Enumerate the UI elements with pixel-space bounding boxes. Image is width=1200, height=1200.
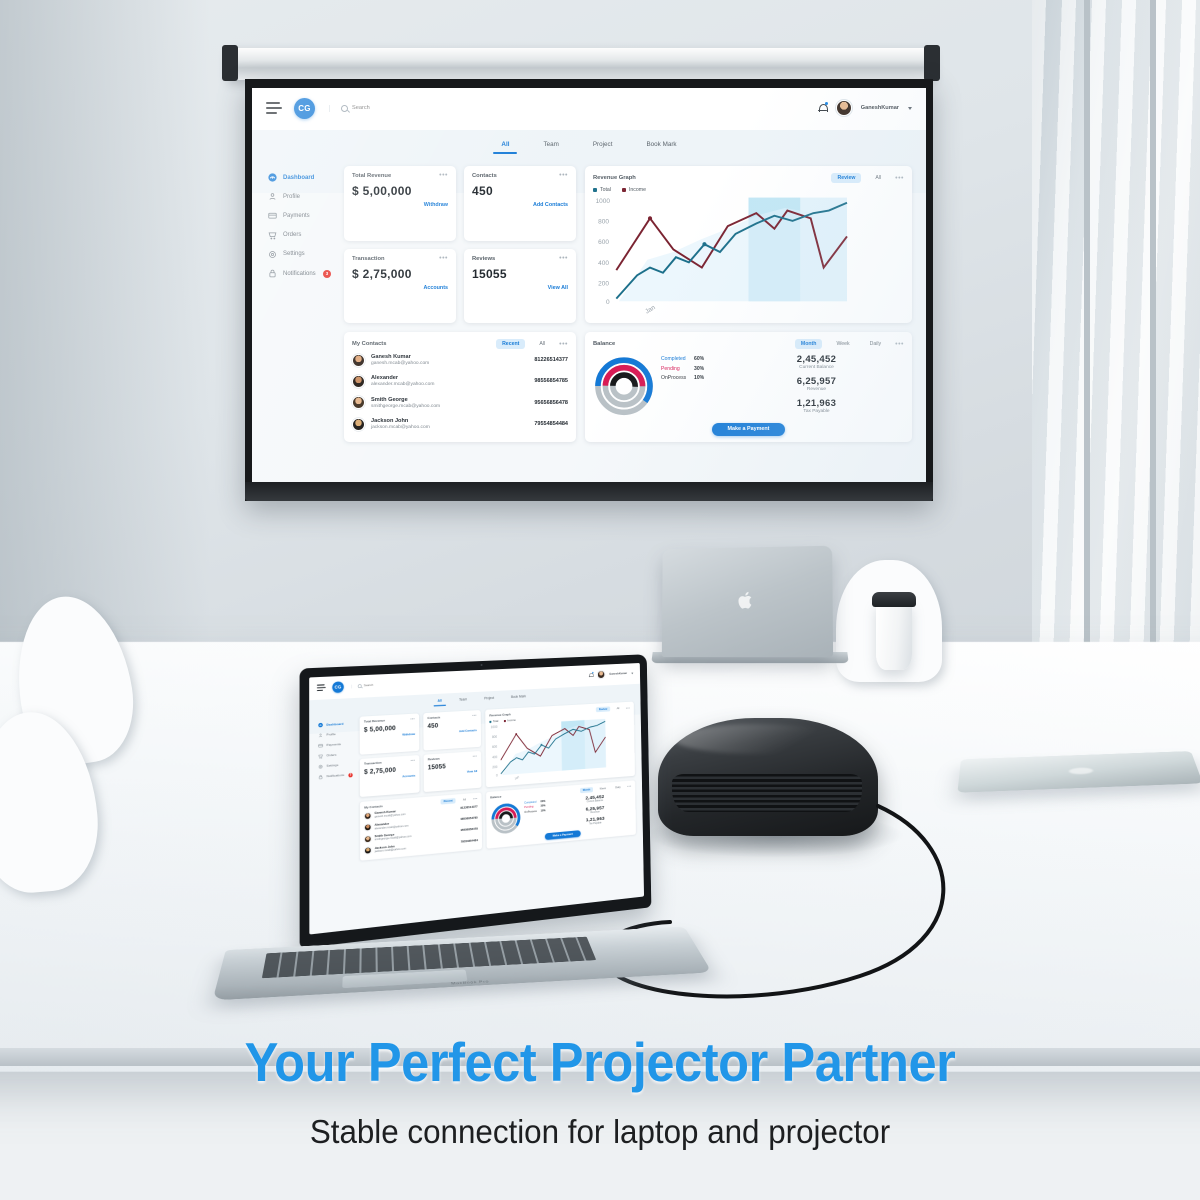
brand-logo[interactable]: CG — [294, 98, 315, 119]
sidebar-label: Dashboard — [283, 175, 314, 181]
card-title: Reviews — [472, 256, 495, 262]
contact-email: smithgeorge.mcab@yahoo.com — [371, 404, 528, 409]
tab-project[interactable]: Project — [593, 141, 613, 154]
revenue-graph-title: Revenue Graph — [489, 713, 510, 717]
dashboard-icon — [318, 722, 324, 728]
card-action-link[interactable]: Add Contacts — [428, 729, 477, 735]
balance-radial-chart — [490, 799, 521, 837]
stat-value: 15055 — [472, 267, 568, 281]
card-action-link[interactable]: Accounts — [364, 774, 415, 781]
sidebar-label: Payments — [283, 213, 310, 219]
more-options-icon[interactable]: ••• — [439, 256, 448, 261]
gear-icon — [318, 764, 324, 770]
card-title: Total Revenue — [364, 719, 385, 723]
contact-phone: 98556854785 — [534, 378, 568, 384]
stat-card-total-revenue: Total Revenue ••• $ 5,00,000 Withdraw — [360, 713, 420, 754]
coffee-cup — [876, 602, 912, 670]
card-icon — [267, 211, 277, 221]
contact-row[interactable]: Smith George smithgeorge.mcab@yahoo.com … — [352, 392, 568, 413]
avatar — [364, 824, 371, 832]
svg-text:600: 600 — [492, 745, 497, 749]
balance-metrics: 2,45,452 Current Balance 6,25,957 Revenu… — [729, 352, 904, 421]
contact-row[interactable]: Jackson John jackson.mcab@yahoo.com 7955… — [352, 414, 568, 435]
laptop-lid: CG GaneshKumar All Team Project Book Mar… — [300, 654, 652, 948]
more-options-icon[interactable]: ••• — [472, 714, 477, 717]
stat-value: $ 2,75,000 — [352, 267, 448, 281]
card-title: Contacts — [427, 716, 440, 720]
stat-card-total-revenue: Total Revenue ••• $ 5,00,000 Withdraw — [344, 166, 456, 241]
contact-phone: 79554854484 — [534, 421, 568, 427]
card-title: Transaction — [352, 256, 385, 262]
sidebar-item-orders[interactable]: Orders — [264, 226, 334, 245]
balance-filter-week[interactable]: Week — [830, 339, 855, 349]
revenue-graph-card: Revenue Graph Review All ••• Total Incom… — [585, 166, 912, 323]
revenue-line-chart: 1000800600 4002000 JanFebMar AprMayJun — [593, 195, 904, 319]
legend-label: Completed — [524, 800, 539, 804]
lock-icon — [318, 774, 324, 780]
legend-item-income: Income — [622, 187, 646, 193]
legend-label: Pending — [524, 805, 539, 809]
svg-text:1000: 1000 — [491, 725, 498, 729]
metric-value: 6,25,957 — [729, 376, 904, 387]
legend-percent: 30% — [694, 366, 704, 372]
apple-logo-icon — [738, 590, 755, 610]
contact-name: Ganesh Kumar — [371, 354, 528, 360]
contact-phone: 79554854484 — [461, 839, 478, 844]
notification-badge: 3 — [323, 270, 331, 278]
tab-all[interactable]: All — [438, 699, 442, 706]
contact-email: ganesh.mcab@yahoo.com — [371, 361, 528, 366]
projector-vent-grille — [672, 774, 862, 812]
legend-percent: 10% — [541, 809, 546, 812]
tab-all[interactable]: All — [501, 141, 509, 154]
metric-label: Revenue — [729, 387, 904, 392]
search-box[interactable] — [329, 105, 422, 112]
card-icon — [318, 743, 324, 749]
sidebar-label: Profile — [283, 194, 300, 200]
hamburger-menu-icon[interactable] — [317, 684, 326, 691]
more-options-icon[interactable]: ••• — [559, 173, 568, 178]
svg-text:Jan: Jan — [644, 304, 657, 315]
sidebar-nav: Dashboard Profile Payments — [264, 166, 334, 442]
hamburger-menu-icon[interactable] — [266, 102, 282, 114]
svg-text:800: 800 — [492, 735, 497, 739]
more-options-icon[interactable]: ••• — [627, 785, 631, 788]
sidebar-label: Settings — [326, 764, 338, 768]
more-options-icon[interactable]: ••• — [559, 256, 568, 261]
sidebar-item-notifications[interactable]: Notifications 3 — [264, 264, 334, 283]
marketing-subheadline: Stable connection for laptop and project… — [30, 1113, 1170, 1151]
dashboard-topbar: CG GaneshKumar — [252, 88, 926, 128]
contact-name: Smith George — [371, 397, 528, 403]
stat-card-reviews: Reviews ••• 15055 View All — [464, 249, 576, 324]
my-contacts-card: My Contacts Recent All ••• Gan — [344, 332, 576, 442]
notification-badge: 3 — [348, 773, 352, 778]
balance-metrics: 2,45,452 Current Balance 6,25,957 Revenu… — [557, 790, 632, 831]
svg-text:200: 200 — [598, 281, 609, 288]
stat-value: 450 — [427, 720, 476, 730]
stat-value: 450 — [472, 184, 568, 198]
user-icon — [267, 192, 277, 202]
sidebar-label: Orders — [283, 232, 301, 238]
avatar — [352, 418, 365, 431]
tab-bar: All Team Project Book Mark — [252, 128, 926, 154]
sidebar-label: Notifications — [283, 271, 316, 277]
more-options-icon[interactable]: ••• — [411, 759, 416, 762]
search-icon — [358, 684, 362, 688]
laptop-keyboard-base: MacBook Pro — [212, 926, 711, 1000]
sidebar-label: Profile — [326, 733, 335, 737]
legend-label: Pending — [661, 366, 691, 372]
office-scene: CG GaneshKumar All Team Project Book Mar… — [0, 0, 1200, 1200]
user-icon — [318, 733, 324, 739]
more-options-icon[interactable]: ••• — [473, 755, 478, 758]
open-laptop: CG GaneshKumar All Team Project Book Mar… — [196, 660, 696, 1032]
svg-text:600: 600 — [598, 239, 609, 246]
contact-email: alexander.mcab@yahoo.com — [371, 382, 528, 387]
cart-icon — [267, 230, 277, 240]
marketing-headline: Your Perfect Projector Partner — [48, 1030, 1152, 1094]
sidebar-item-settings[interactable]: Settings — [264, 245, 334, 264]
sidebar-label: Payments — [326, 743, 341, 747]
laptop-brand-label: MacBook Pro — [451, 980, 490, 986]
svg-text:Jan: Jan — [514, 775, 520, 781]
dashboard-app: CG GaneshKumar All Team Project Book Mar… — [309, 663, 643, 934]
sidebar-item-dashboard[interactable]: Dashboard — [264, 168, 334, 187]
sidebar-label: Notifications — [326, 774, 344, 779]
card-action-link[interactable]: Add Contacts — [472, 202, 568, 208]
balance-card: Balance Month Week Daily ••• — [585, 332, 912, 442]
tab-team[interactable]: Team — [459, 698, 467, 705]
sidebar-label: Orders — [326, 754, 336, 758]
gear-icon — [267, 249, 277, 259]
revenue-graph-card: Revenue Graph Review All ••• Total Incom… — [485, 702, 635, 788]
sidebar-label: Dashboard — [326, 722, 343, 726]
user-avatar[interactable] — [836, 100, 852, 116]
card-action-link[interactable]: Withdraw — [364, 733, 415, 739]
svg-text:200: 200 — [492, 765, 497, 769]
dashboard-icon — [267, 173, 277, 183]
projector-screen-roller — [228, 48, 934, 80]
card-action-link[interactable]: Accounts — [352, 285, 448, 291]
legend-percent: 60% — [540, 799, 545, 802]
more-options-icon[interactable]: ••• — [410, 717, 415, 720]
legend-percent: 30% — [541, 804, 546, 807]
legend-item-total: Total — [593, 187, 611, 193]
sidebar-nav: Dashboard Profile Payments — [316, 717, 355, 865]
contact-phone: 81226514377 — [534, 357, 568, 363]
chevron-down-icon[interactable] — [908, 107, 912, 110]
balance-filter-month[interactable]: Month — [580, 787, 593, 793]
contact-row[interactable]: Ganesh Kumar ganesh.mcab@yahoo.com 81226… — [352, 349, 568, 370]
card-action-link[interactable]: View All — [472, 285, 568, 291]
more-options-icon[interactable]: ••• — [626, 707, 630, 710]
svg-text:800: 800 — [598, 219, 609, 226]
stat-card-reviews: Reviews ••• 15055 View All — [424, 751, 482, 792]
dashboard-app: CG GaneshKumar All Team Project Book Mar… — [252, 88, 926, 482]
contact-name: Alexander — [371, 375, 528, 381]
my-contacts-card: My Contacts Recent All ••• Gan — [360, 792, 482, 861]
sidebar-label: Settings — [283, 251, 305, 257]
search-icon — [341, 105, 348, 112]
contact-phone: 81226514377 — [460, 805, 477, 810]
graph-filter-review[interactable]: Review — [596, 706, 610, 712]
make-a-payment-button[interactable]: Make a Payment — [712, 423, 786, 436]
avatar — [352, 354, 365, 367]
card-title: Contacts — [472, 173, 497, 179]
laptop-dashboard-screen: CG GaneshKumar All Team Project Book Mar… — [309, 663, 644, 935]
chevron-down-icon[interactable] — [631, 672, 633, 674]
brand-logo[interactable]: CG — [332, 681, 343, 693]
card-title: Total Revenue — [352, 173, 391, 179]
balance-filter-daily[interactable]: Daily — [864, 339, 888, 349]
balance-filter-week[interactable]: Week — [597, 786, 609, 792]
revenue-line-chart: 1000800600 4002000 JanFebMar AprMayJun — [489, 716, 631, 785]
balance-title: Balance — [490, 795, 501, 799]
avatar — [364, 847, 371, 855]
card-action-link[interactable]: Withdraw — [352, 202, 448, 208]
card-action-link[interactable]: View All — [428, 770, 477, 777]
svg-text:Feb: Feb — [536, 780, 542, 785]
notification-bell-icon[interactable] — [818, 103, 827, 114]
card-title: Transaction — [364, 761, 382, 765]
macbook-rear-lid — [662, 546, 833, 658]
stat-card-transaction: Transaction ••• $ 2,75,000 Accounts — [344, 249, 456, 324]
tab-book-mark[interactable]: Book Mark — [511, 695, 526, 702]
stat-card-contacts: Contacts ••• 450 Add Contacts — [464, 166, 576, 241]
card-title: Reviews — [428, 757, 440, 761]
search-input[interactable] — [364, 682, 401, 687]
projector-screen-bottom-bar — [245, 482, 933, 501]
more-options-icon[interactable]: ••• — [473, 797, 478, 800]
balance-filter-daily[interactable]: Daily — [612, 785, 623, 791]
more-options-icon[interactable]: ••• — [895, 176, 904, 181]
contacts-filter-recent[interactable]: Recent — [496, 339, 525, 349]
revenue-graph-title: Revenue Graph — [593, 175, 636, 181]
notification-bell-icon[interactable] — [589, 672, 593, 678]
contact-email: jackson.mcab@yahoo.com — [371, 425, 528, 430]
tab-project[interactable]: Project — [484, 697, 494, 704]
graph-filter-all[interactable]: All — [614, 706, 622, 711]
contact-phone: 98556854785 — [460, 817, 477, 822]
svg-text:0: 0 — [496, 774, 498, 778]
balance-filter-month[interactable]: Month — [795, 339, 823, 349]
stat-card-contacts: Contacts ••• 450 Add Contacts — [423, 710, 481, 750]
more-options-icon[interactable]: ••• — [559, 342, 568, 347]
chart-legend: Total Income — [593, 187, 904, 193]
contact-row[interactable]: Alexander alexander.mcab@yahoo.com 98556… — [352, 371, 568, 392]
contacts-filter-all[interactable]: All — [533, 339, 551, 349]
sidebar-item-payments[interactable]: Payments — [264, 206, 334, 225]
metric-label: Tax Payable — [729, 409, 904, 414]
svg-text:Feb: Feb — [693, 318, 707, 320]
avatar — [352, 375, 365, 388]
legend-label: OnProcess — [661, 375, 691, 381]
legend-percent: 60% — [694, 356, 704, 362]
stat-value: $ 5,00,000 — [352, 184, 448, 198]
metric-label: Current Balance — [729, 365, 904, 370]
projected-dashboard-screen: CG GaneshKumar All Team Project Book Mar… — [252, 88, 926, 482]
svg-text:0: 0 — [606, 299, 610, 306]
balance-legend: Completed60% Pending30% OnProcess10% — [524, 797, 555, 835]
avatar — [364, 812, 371, 820]
balance-card: Balance Month Week Daily ••• — [486, 780, 636, 849]
sidebar-item-notifications[interactable]: Notifications 3 — [316, 770, 354, 783]
stat-cards: Total Revenue ••• $ 5,00,000 Withdraw Co… — [344, 166, 576, 323]
contact-phone: 95656856478 — [461, 828, 478, 833]
graph-filter-review[interactable]: Review — [831, 173, 861, 183]
search-input[interactable] — [352, 105, 422, 111]
avatar — [352, 396, 365, 409]
more-options-icon[interactable]: ••• — [439, 173, 448, 178]
metric-value: 1,21,963 — [729, 398, 904, 409]
webcam-icon — [481, 664, 483, 666]
contact-phone: 95656856478 — [534, 400, 568, 406]
username-label: GaneshKumar — [861, 105, 899, 111]
sidebar-item-profile[interactable]: Profile — [264, 187, 334, 206]
tab-book-mark[interactable]: Book Mark — [646, 141, 676, 154]
contacts-filter-all[interactable]: All — [460, 797, 469, 803]
search-box[interactable] — [351, 682, 401, 688]
cart-icon — [318, 753, 324, 759]
legend-label: Completed — [661, 356, 691, 362]
contact-name: Jackson John — [371, 418, 528, 424]
metric-value: 2,45,452 — [729, 354, 904, 365]
legend-percent: 10% — [694, 375, 704, 381]
balance-title: Balance — [593, 341, 615, 347]
user-avatar[interactable] — [597, 670, 605, 678]
balance-radial-chart — [593, 352, 655, 421]
more-options-icon[interactable]: ••• — [895, 342, 904, 347]
legend-item-total: Total — [489, 720, 498, 724]
avatar — [364, 835, 371, 843]
legend-label: OnProcess — [524, 810, 539, 814]
svg-text:400: 400 — [598, 260, 609, 267]
username-label: GaneshKumar — [609, 672, 627, 676]
stat-card-transaction: Transaction ••• $ 2,75,000 Accounts — [360, 755, 420, 797]
coffee-cup-lid — [872, 592, 916, 607]
svg-text:1000: 1000 — [596, 198, 611, 205]
svg-text:400: 400 — [492, 755, 497, 759]
balance-legend: Completed60% Pending30% OnProcess10% — [661, 352, 723, 421]
graph-filter-all[interactable]: All — [869, 173, 887, 183]
lock-icon — [267, 269, 277, 279]
contacts-title: My Contacts — [352, 341, 386, 347]
stat-cards: Total Revenue ••• $ 5,00,000 Withdraw Co… — [360, 710, 482, 797]
stat-value: $ 5,00,000 — [364, 723, 415, 733]
tab-team[interactable]: Team — [543, 141, 558, 154]
